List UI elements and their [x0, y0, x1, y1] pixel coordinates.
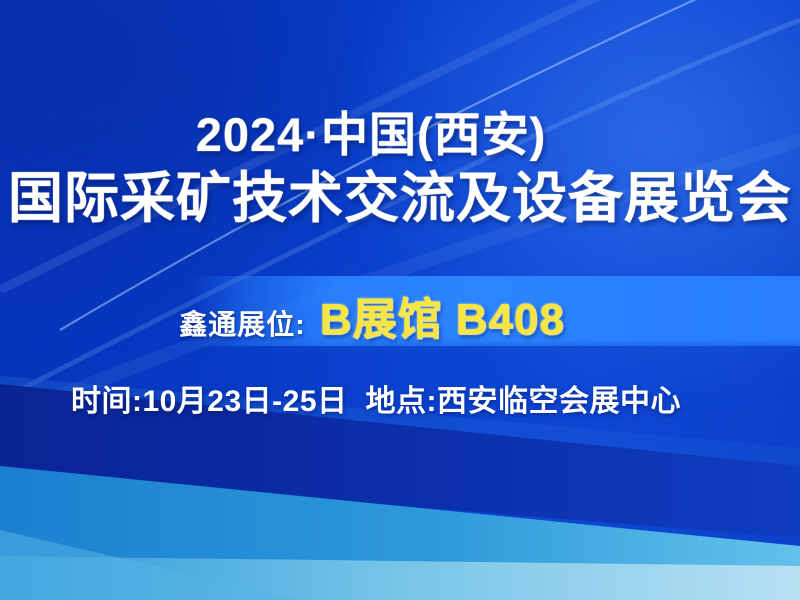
- exhibition-poster: 2024·中国(西安) 国际采矿技术交流及设备展览会 鑫通展位: B展馆 B40…: [0, 0, 800, 600]
- background-gradient: [0, 0, 800, 600]
